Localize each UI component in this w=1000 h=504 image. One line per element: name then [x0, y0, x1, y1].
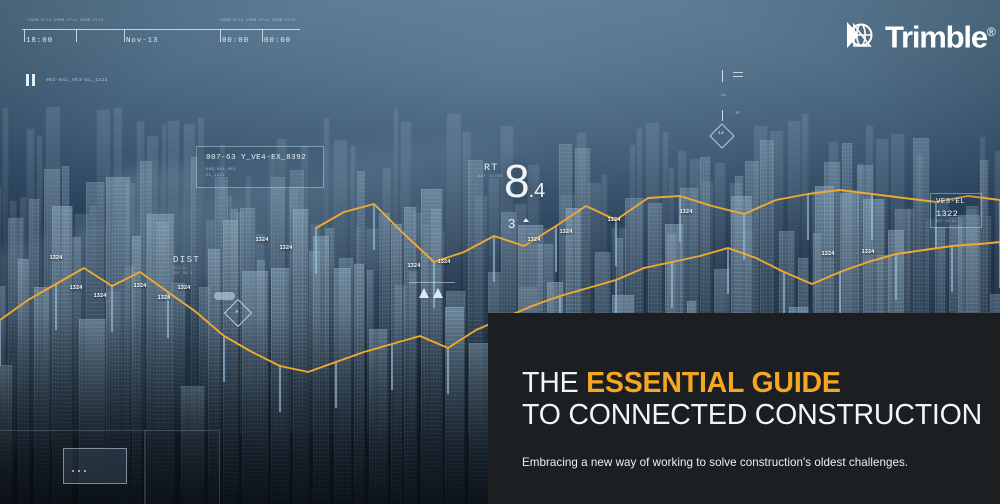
- chart-point-label: 1324: [438, 259, 451, 265]
- caret-up-icon: [433, 288, 443, 298]
- rt-sub-label: SAT SCORE: [478, 175, 503, 179]
- id-sub-line1: 003-041_VE3: [206, 168, 236, 172]
- chart-point-label: 1324: [70, 285, 83, 291]
- id-readout-box[interactable]: [196, 146, 324, 188]
- hero-banner: 1324132413241324132413241324132413241324…: [0, 0, 1000, 504]
- timeline-tick[interactable]: [76, 29, 77, 42]
- timeline-tick-label: 00:00: [222, 37, 249, 45]
- id-readout-title: 007-63 Y_VE4-EX_8392: [206, 154, 306, 162]
- timeline-axis: [22, 29, 300, 30]
- registered-mark: ®: [987, 25, 996, 39]
- hud-tick-mark: [722, 70, 723, 82]
- chart-point-label: 1324: [50, 255, 63, 261]
- headline-plain: THE: [522, 367, 586, 399]
- trimble-wordmark: Trimble®: [885, 17, 996, 52]
- id-readout-sub: 003-041_VE3 EL_1322: [206, 168, 236, 179]
- panel-subtitle: Embracing a new way of working to solve …: [522, 456, 908, 469]
- chart-point-label: 1324: [178, 285, 191, 291]
- timeline-tick[interactable]: [124, 29, 125, 42]
- vel-readout-sub: REF 04-81: [936, 220, 957, 224]
- timeline-micro-label: DDMM-STx4 DDMM-STx4 DDMM-STx4: [28, 19, 103, 23]
- headline-line-2: TO CONNECTED CONSTRUCTION: [522, 398, 982, 432]
- caret-up-icon: [419, 288, 429, 298]
- trimble-logo[interactable]: Trimble®: [845, 17, 996, 53]
- chart-point-label: 1324: [862, 249, 875, 255]
- chart-series-line: [316, 190, 1000, 262]
- headline-line-1: THE ESSENTIAL GUIDE: [522, 366, 841, 400]
- pause-icon[interactable]: [26, 74, 35, 86]
- dist-label: DIST: [173, 255, 200, 265]
- chart-point-label: 1324: [608, 217, 621, 223]
- chart-point-label: 1324: [408, 263, 421, 269]
- vel-readout-value: 1322: [936, 209, 958, 219]
- hud-diamond-label: 14: [713, 131, 729, 136]
- timeline-tick-label: 00:00: [264, 37, 291, 45]
- triangle-up-icon: [523, 218, 529, 222]
- dist-sub-line2: REF 83.1: [173, 272, 193, 276]
- hud-mark-label: JP: [735, 112, 740, 116]
- timeline-tick[interactable]: [24, 29, 25, 42]
- chart-point-label: 1324: [94, 293, 107, 299]
- timeline-tick[interactable]: [262, 29, 263, 42]
- chart-point-label: 1324: [280, 245, 293, 251]
- chart-point-label: 1324: [528, 237, 541, 243]
- dist-sub: VE3-EL REF 83.1: [173, 267, 193, 277]
- capsule-marker-icon: [214, 292, 235, 300]
- rt-label: RT: [484, 163, 499, 174]
- chart-point-label: 1324: [560, 229, 573, 235]
- headline-accent: ESSENTIAL GUIDE: [586, 367, 841, 399]
- id-sub-line2: EL_1322: [206, 174, 225, 178]
- hud-tick-mark: [722, 110, 723, 121]
- hud-dash: [733, 76, 743, 77]
- trimble-globe-triangle-icon: [845, 18, 879, 52]
- secondary-value: 3: [508, 216, 515, 231]
- chart-point-label: 1324: [158, 295, 171, 301]
- chart-point-label: 1324: [680, 209, 693, 215]
- timeline-micro-label: DDMM-STx4 DDMM-STx4 DDMM-STx4: [220, 19, 295, 23]
- hud-dash: [733, 72, 743, 73]
- dist-sub-line1: VE3-EL: [173, 267, 188, 271]
- hud-mark-label: 14: [721, 94, 726, 98]
- rt-value-dec: .4: [529, 180, 546, 202]
- hud-rule: [409, 282, 455, 283]
- chart-point-label: 1324: [134, 283, 147, 289]
- timeline-tick[interactable]: [220, 29, 221, 42]
- timeline-tick-label: Nov-13: [126, 37, 158, 45]
- hud-diamond-glyph: ✳: [228, 308, 246, 315]
- timeline-tick-label: 18:00: [26, 37, 53, 45]
- trimble-wordmark-text: Trimble: [885, 20, 987, 55]
- clip-id-label: 002-041_VE3-EL_1322: [46, 78, 108, 83]
- vel-readout-title: VE3-EL: [936, 198, 965, 206]
- rt-value: 8.4: [504, 158, 545, 214]
- chart-point-label: 1324: [822, 251, 835, 257]
- chart-point-label: 1324: [256, 237, 269, 243]
- rt-value-int: 8: [504, 155, 529, 207]
